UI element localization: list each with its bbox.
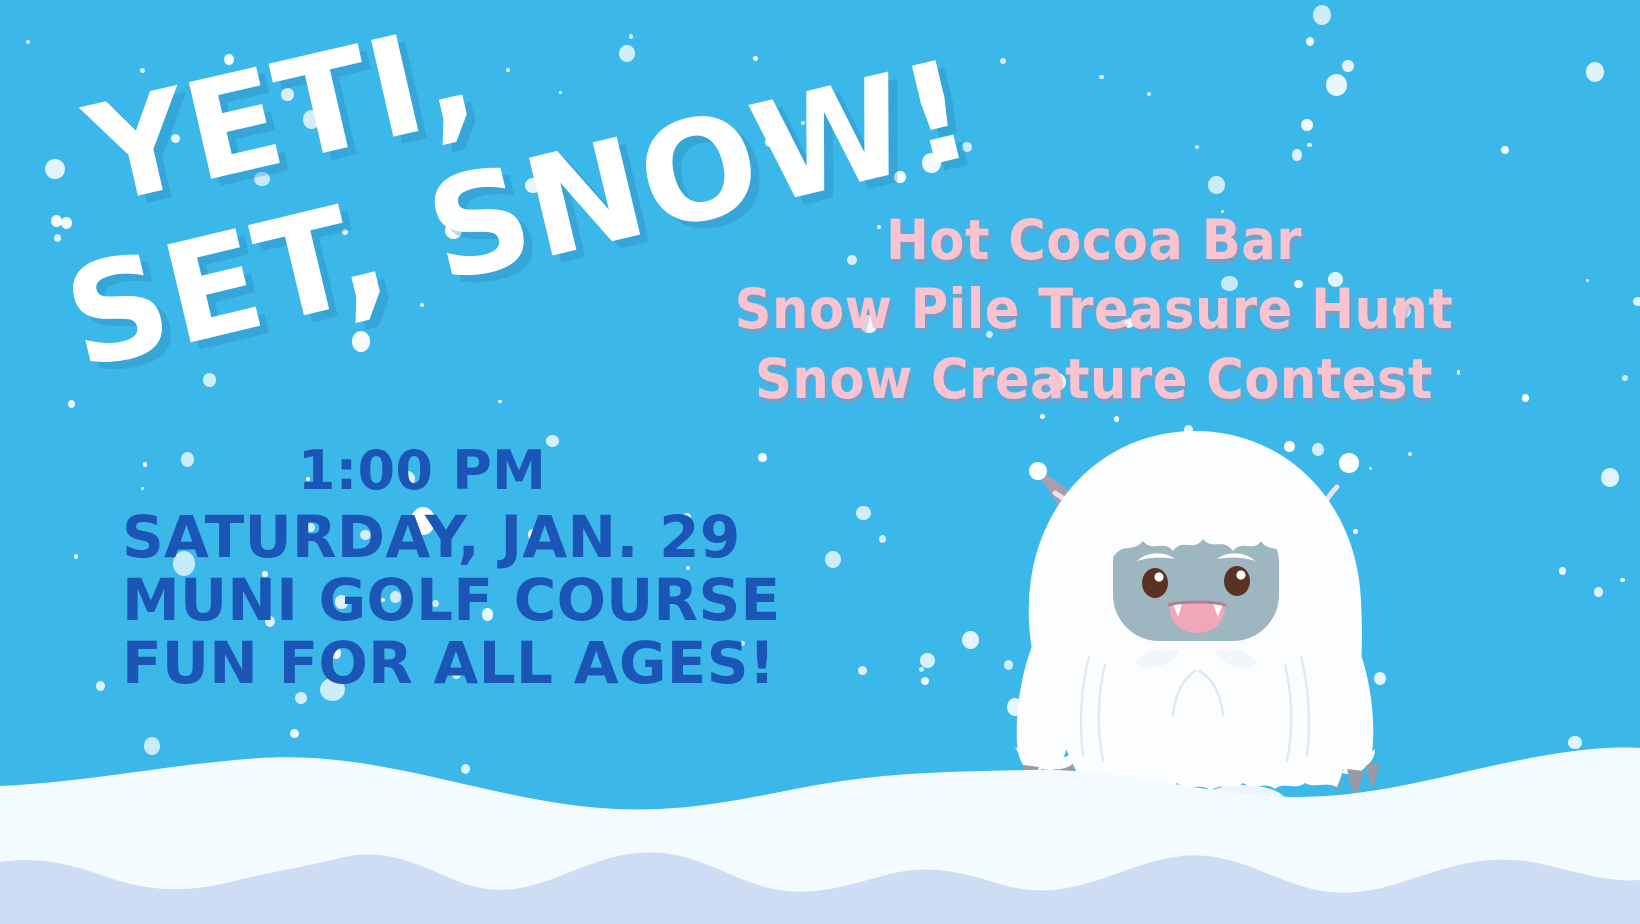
winter-event-poster: YETI, SET, SNOW! Hot Cocoa Bar Snow Pile… [0,0,1640,924]
snow-mounds [0,804,1640,924]
